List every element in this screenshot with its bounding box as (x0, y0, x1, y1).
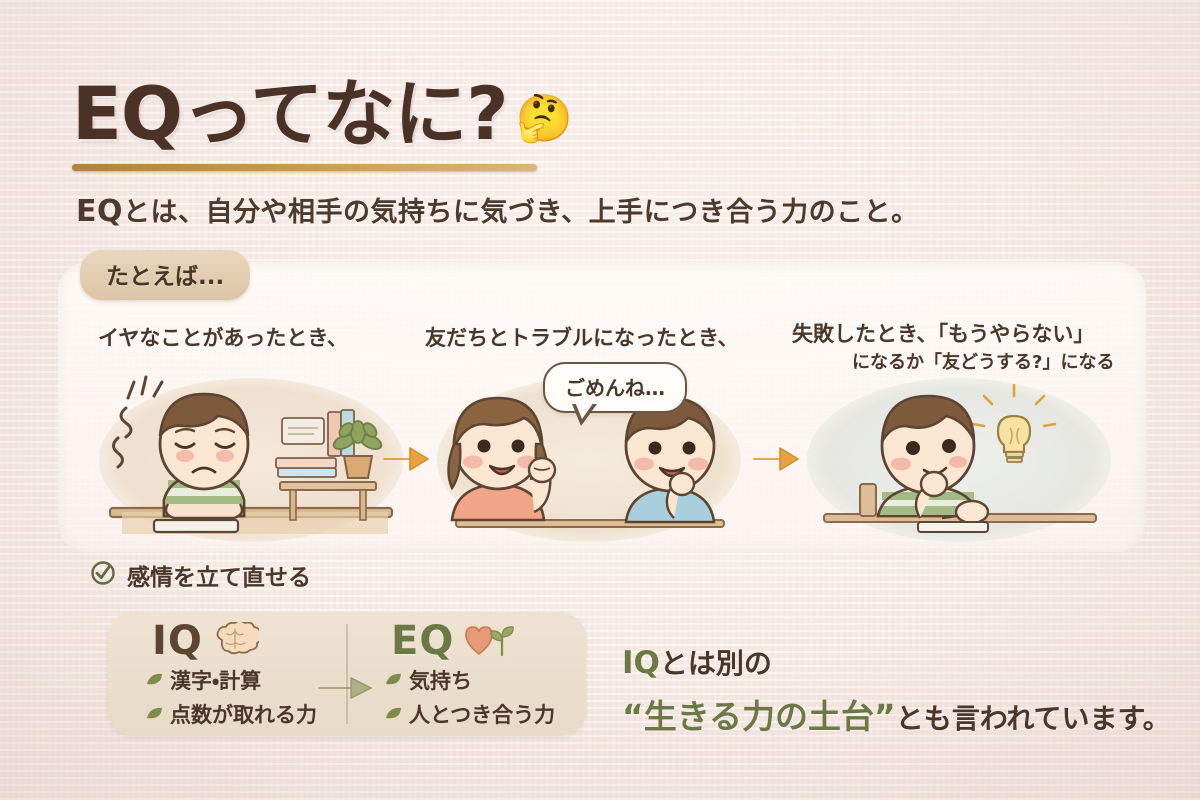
title-row: EQってなに? 🤔 (72, 78, 712, 151)
subtitle-lead: EQ (76, 194, 123, 229)
conclusion-line-2: “生きる力の土台”とも言われています。 (622, 690, 1171, 738)
heart-sprout-icon (464, 621, 514, 661)
list-item: 人とつき合う力 (385, 699, 586, 729)
list-item: 気持ち (385, 665, 586, 695)
iq-column: IQ 漢字・計算 (108, 612, 347, 736)
iq-eq-compare-card: IQ 漢字・計算 (108, 612, 586, 736)
conclusion-line-1: IQとは別の (622, 642, 1171, 682)
check-label: 感情を立て直せる (127, 558, 311, 592)
examples-badge: たとえば... (80, 250, 250, 300)
eq-bullet-2: 人とつき合う力 (409, 699, 555, 729)
iq-bullets: 漢字・計算 点数が取れる力 (108, 665, 347, 729)
conclusion-line-1-rest: とは別の (660, 647, 772, 680)
leaf-icon (385, 671, 402, 690)
conclusion-text: IQとは別の “生きる力の土台”とも言われています。 (622, 642, 1171, 738)
thinking-boy-with-lightbulb-illustration (800, 372, 1118, 547)
speech-bubble-tail-inner (575, 402, 594, 419)
eq-bullets: 気持ち 人とつき合う力 (347, 665, 586, 729)
conclusion-iq-accent: IQ (622, 645, 660, 681)
iq-header: IQ (108, 621, 347, 661)
conclusion-line-2-rest: とも言われています。 (896, 702, 1171, 735)
scene-2-caption: 友だちとトラブルになったとき、 (425, 322, 739, 352)
subtitle-rest: とは、自分や相手の気持ちに気づき、上手につき合う力のこと。 (123, 197, 919, 228)
check-statement: 感情を立て直せる (90, 558, 311, 592)
eq-column: EQ 気持ち (347, 612, 586, 736)
leaf-icon (146, 671, 163, 690)
title-underline-rule (72, 164, 537, 171)
flow-arrow-icon-2 (752, 442, 800, 476)
scene-1-caption: イヤなことがあったとき、 (98, 322, 348, 352)
eq-header: EQ (347, 621, 586, 661)
scene-3-caption-line2: になるか「友どうする?」になる (852, 348, 1114, 374)
flow-arrow-icon-1 (382, 442, 430, 476)
infographic-stage: EQってなに? 🤔 EQとは、自分や相手の気持ちに気づき、上手につき合う力のこと… (0, 0, 1200, 800)
title-block: EQってなに? 🤔 (72, 78, 712, 171)
check-circle-icon (90, 560, 116, 590)
sad-boy-at-desk-illustration (92, 372, 410, 547)
subtitle: EQとは、自分や相手の気持ちに気づき、上手につき合う力のこと。 (76, 190, 919, 229)
eq-bullet-1: 気持ち (409, 665, 472, 695)
leaf-icon (385, 705, 402, 724)
leaf-icon (146, 705, 163, 724)
conclusion-quote: “生きる力の土台” (622, 697, 896, 736)
page-title: EQってなに? (72, 78, 508, 151)
iq-bullet-2: 点数が取れる力 (170, 699, 317, 729)
iq-title: IQ (152, 621, 203, 661)
list-item: 点数が取れる力 (146, 699, 347, 729)
iq-bullet-1: 漢字・計算 (170, 665, 261, 695)
thinking-face-emoji: 🤔 (516, 95, 573, 141)
scene-3-caption-line1: 失敗したとき、「もうやらない」 (792, 318, 1094, 348)
speech-bubble: ごめんね… (543, 362, 687, 413)
eq-title: EQ (391, 621, 454, 661)
brain-icon (213, 622, 259, 660)
